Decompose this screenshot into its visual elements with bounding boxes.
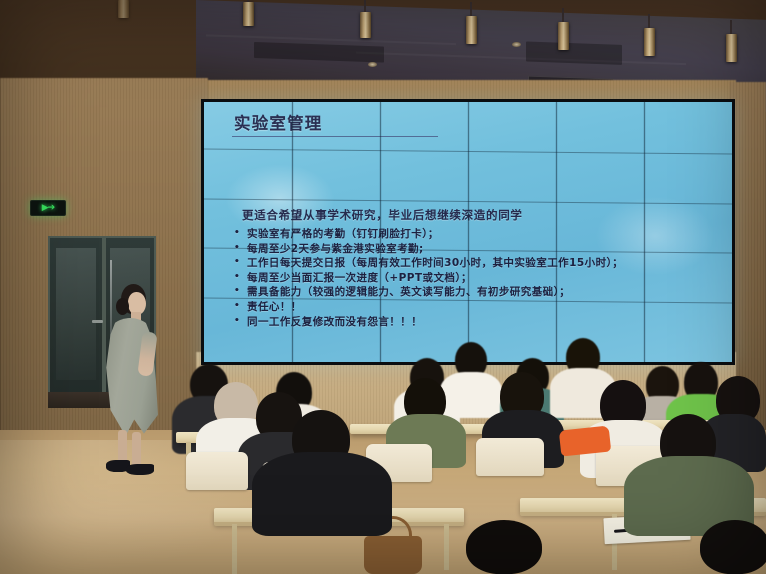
chair[interactable] xyxy=(186,452,248,490)
title-underline xyxy=(232,136,438,137)
slide-bullet-list: 实验室有严格的考勤（钉钉刷脸打卡）； 每周至少2天参与紫金港实验室考勤; 工作日… xyxy=(220,227,722,329)
led-video-wall[interactable]: 实验室管理 更适合希望从事学术研究，毕业后想继续深造的同学 实验室有严格的考勤（… xyxy=(201,99,735,365)
list-item: 同一工作反复修改而没有怨言！！！ xyxy=(234,315,722,330)
list-item: 每周至少2天参与紫金港实验室考勤; xyxy=(234,242,722,257)
running-man-icon: ▶➔ xyxy=(42,204,54,213)
presenter-shoe xyxy=(126,464,154,475)
list-item: 工作日每天提交日报（每周有效工作时间30小时，其中实验室工作15小时）； xyxy=(234,256,722,271)
backpack[interactable] xyxy=(559,425,611,456)
presenter-hair-bun xyxy=(116,298,129,315)
slide-lead-text: 更适合希望从事学术研究，毕业后想继续深造的同学 xyxy=(242,208,722,223)
chair[interactable] xyxy=(476,438,544,476)
lecture-hall-photo: ▶➔ 实验室管理 更适合希望从事学术研究，毕业后想继续深造的同学 实验室有严格的… xyxy=(0,0,766,574)
list-item: 责任心！！ xyxy=(234,300,722,315)
presentation-screen: 实验室管理 更适合希望从事学术研究，毕业后想继续深造的同学 实验室有严格的考勤（… xyxy=(204,102,732,362)
exit-sign: ▶➔ xyxy=(30,200,66,216)
ceiling-left-soffit xyxy=(0,0,200,86)
presenter-speaker xyxy=(96,284,168,484)
list-item: 需具备能力（较强的逻辑能力、英文读写能力、有初步研究基础）； xyxy=(234,285,722,300)
slide-body: 更适合希望从事学术研究，毕业后想继续深造的同学 实验室有严格的考勤（钉钉刷脸打卡… xyxy=(220,208,722,329)
slide-content: 实验室管理 更适合希望从事学术研究，毕业后想继续深造的同学 实验室有严格的考勤（… xyxy=(204,102,732,362)
list-item: 每周至少当面汇报一次进度（+PPT或文档）； xyxy=(234,271,722,286)
list-item: 实验室有严格的考勤（钉钉刷脸打卡）； xyxy=(234,227,722,242)
handbag[interactable] xyxy=(364,536,422,574)
slide-title: 实验室管理 xyxy=(234,114,716,134)
